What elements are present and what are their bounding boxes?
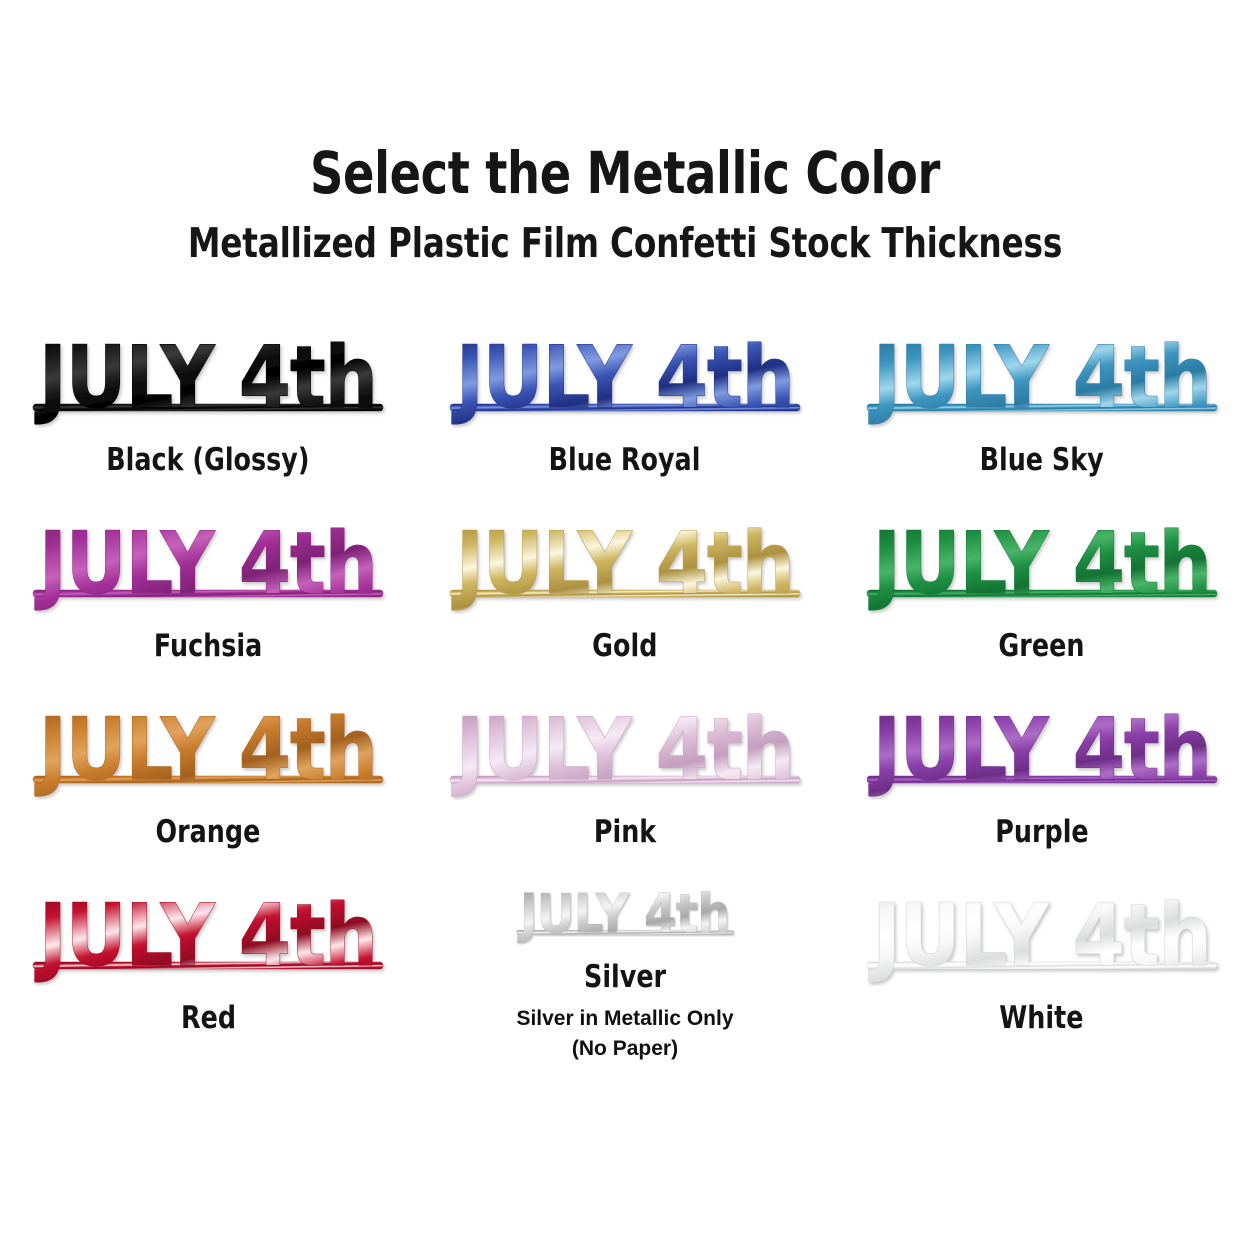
color-swatch-gold[interactable]: JULY 4thGold [417, 506, 834, 692]
july-4th-confetti-cutout[interactable]: JULY 4th [446, 878, 804, 945]
color-swatch-green[interactable]: JULY 4thGreen [833, 506, 1250, 692]
color-swatch-silver[interactable]: JULY 4thSilverSilver in Metallic Only (N… [417, 878, 834, 1064]
confetti-word-text: JULY 4th [35, 514, 377, 614]
confetti-word-text: JULY 4th [452, 328, 794, 428]
color-swatch-pink[interactable]: JULY 4thPink [417, 692, 834, 878]
confetti-word-text: JULY 4th [868, 514, 1210, 614]
confetti-word-text: JULY 4th [452, 700, 794, 800]
color-swatch-label: Pink [594, 814, 656, 850]
color-swatch-fuchsia[interactable]: JULY 4thFuchsia [0, 506, 417, 692]
confetti-word-text: JULY 4th [868, 886, 1210, 986]
color-swatch-note: Silver in Metallic Only (No Paper) [516, 1004, 733, 1064]
confetti-word-text: JULY 4th [35, 700, 377, 800]
july-4th-confetti-cutout[interactable]: JULY 4th [446, 692, 804, 800]
july-4th-confetti-cutout[interactable]: JULY 4th [863, 692, 1221, 800]
page-subtitle: Metallized Plastic Film Confetti Stock T… [125, 218, 1125, 268]
confetti-word-text: JULY 4th [518, 882, 730, 945]
july-4th-confetti-cutout[interactable]: JULY 4th [29, 320, 387, 428]
confetti-word-text: JULY 4th [868, 700, 1210, 800]
page-header: Select the Metallic Color Metallized Pla… [0, 140, 1250, 268]
july-4th-confetti-cutout[interactable]: JULY 4th [863, 320, 1221, 428]
july-4th-confetti-cutout[interactable]: JULY 4th [863, 506, 1221, 614]
july-4th-confetti-cutout[interactable]: JULY 4th [29, 878, 387, 986]
color-swatch-label: Orange [156, 814, 261, 850]
july-4th-confetti-cutout[interactable]: JULY 4th [29, 506, 387, 614]
color-swatch-blue-royal[interactable]: JULY 4thBlue Royal [417, 320, 834, 506]
july-4th-confetti-cutout[interactable]: JULY 4th [446, 506, 804, 614]
july-4th-confetti-cutout[interactable]: JULY 4th [29, 692, 387, 800]
color-swatch-label: Fuchsia [154, 628, 262, 664]
color-swatch-blue-sky[interactable]: JULY 4thBlue Sky [833, 320, 1250, 506]
confetti-word-text: JULY 4th [452, 514, 794, 614]
color-swatch-label: Green [999, 628, 1085, 664]
color-swatch-label: Red [181, 1000, 236, 1036]
color-swatch-grid: JULY 4thBlack (Glossy)JULY 4thBlue Royal… [0, 320, 1250, 1064]
confetti-word-text: JULY 4th [868, 328, 1210, 428]
july-4th-confetti-cutout[interactable]: JULY 4th [446, 320, 804, 428]
color-swatch-label: Purple [995, 814, 1088, 850]
color-swatch-label: Gold [592, 628, 657, 664]
color-selection-page: Select the Metallic Color Metallized Pla… [0, 0, 1250, 1250]
color-swatch-white[interactable]: JULY 4thWhite [833, 878, 1250, 1064]
confetti-word-text: JULY 4th [35, 886, 377, 986]
color-swatch-label: White [1000, 1000, 1084, 1036]
color-swatch-black-glossy[interactable]: JULY 4thBlack (Glossy) [0, 320, 417, 506]
color-swatch-label: Black (Glossy) [107, 442, 310, 478]
color-swatch-label: Silver [584, 959, 666, 995]
color-swatch-red[interactable]: JULY 4thRed [0, 878, 417, 1064]
page-title: Select the Metallic Color [125, 140, 1125, 206]
color-swatch-orange[interactable]: JULY 4thOrange [0, 692, 417, 878]
color-swatch-purple[interactable]: JULY 4thPurple [833, 692, 1250, 878]
confetti-word-text: JULY 4th [35, 328, 377, 428]
july-4th-confetti-cutout[interactable]: JULY 4th [863, 878, 1221, 986]
color-swatch-label: Blue Sky [980, 442, 1104, 478]
color-swatch-label: Blue Royal [549, 442, 701, 478]
